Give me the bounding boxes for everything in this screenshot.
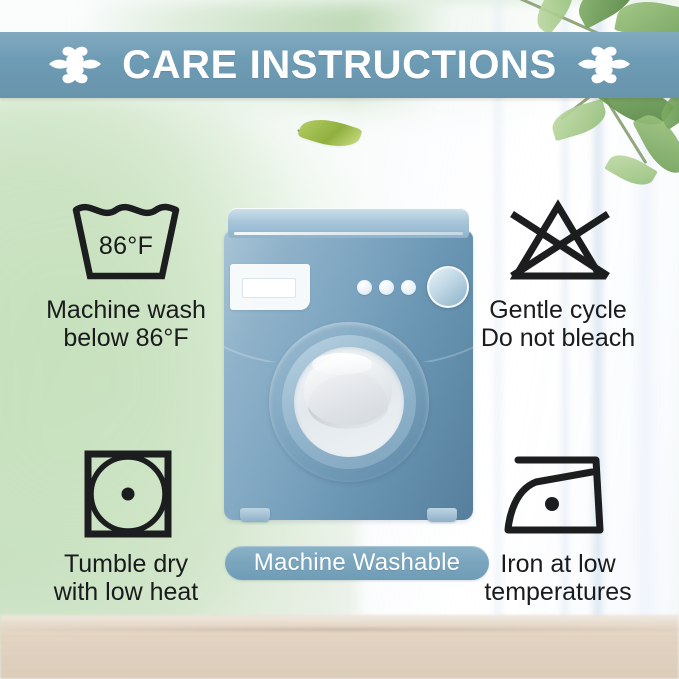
machine-foot [240, 508, 270, 522]
control-button [357, 280, 372, 295]
care-label-line1: Gentle cycle [481, 296, 635, 324]
machine-foot [427, 508, 457, 522]
control-dial [427, 266, 469, 308]
detergent-drawer [230, 264, 310, 310]
tumble-dry-square-icon [76, 446, 176, 542]
triangle-crossed-out-icon [496, 196, 620, 288]
control-button [379, 280, 394, 295]
table-grain [0, 615, 679, 679]
wash-tub-icon: 86°F [66, 196, 186, 288]
care-item-iron: Iron at low temperatures [448, 446, 668, 606]
care-label-line1: Tumble dry [54, 550, 199, 578]
badge-label: Machine Washable [254, 551, 460, 575]
care-label-line2: below 86°F [46, 324, 206, 352]
page-title: CARE INSTRUCTIONS [122, 45, 557, 85]
drawer-slot [242, 278, 296, 298]
iron-icon [496, 446, 620, 542]
control-button [401, 280, 416, 295]
machine-washable-badge: Machine Washable [225, 546, 489, 580]
fleur-de-lis-icon [46, 42, 104, 88]
washing-machine-illustration [224, 208, 473, 520]
wash-temperature-value: 86°F [66, 232, 186, 261]
care-label-line1: Machine wash [46, 296, 206, 324]
care-instructions-infographic: CARE INSTRUCTIONS [0, 0, 679, 679]
care-label-line2: temperatures [484, 578, 631, 606]
table-edge-line [0, 628, 679, 631]
care-item-gentle-cycle-no-bleach: Gentle cycle Do not bleach [448, 196, 668, 352]
machine-door-outer [269, 322, 429, 482]
machine-top-edge [234, 232, 463, 235]
care-label-line2: with low heat [54, 578, 199, 606]
care-label-line1: Iron at low [484, 550, 631, 578]
care-item-machine-wash: 86°F Machine wash below 86°F [16, 196, 236, 352]
care-item-tumble-dry: Tumble dry with low heat [16, 446, 236, 606]
machine-door-glass [294, 347, 404, 457]
fleur-de-lis-icon [575, 42, 633, 88]
care-label-line2: Do not bleach [481, 324, 635, 352]
door-highlight [312, 353, 372, 375]
machine-door-middle [282, 335, 416, 469]
washing-machine-body [224, 230, 473, 520]
header-banner: CARE INSTRUCTIONS [0, 32, 679, 98]
leaf-branch-icon [489, 0, 679, 198]
